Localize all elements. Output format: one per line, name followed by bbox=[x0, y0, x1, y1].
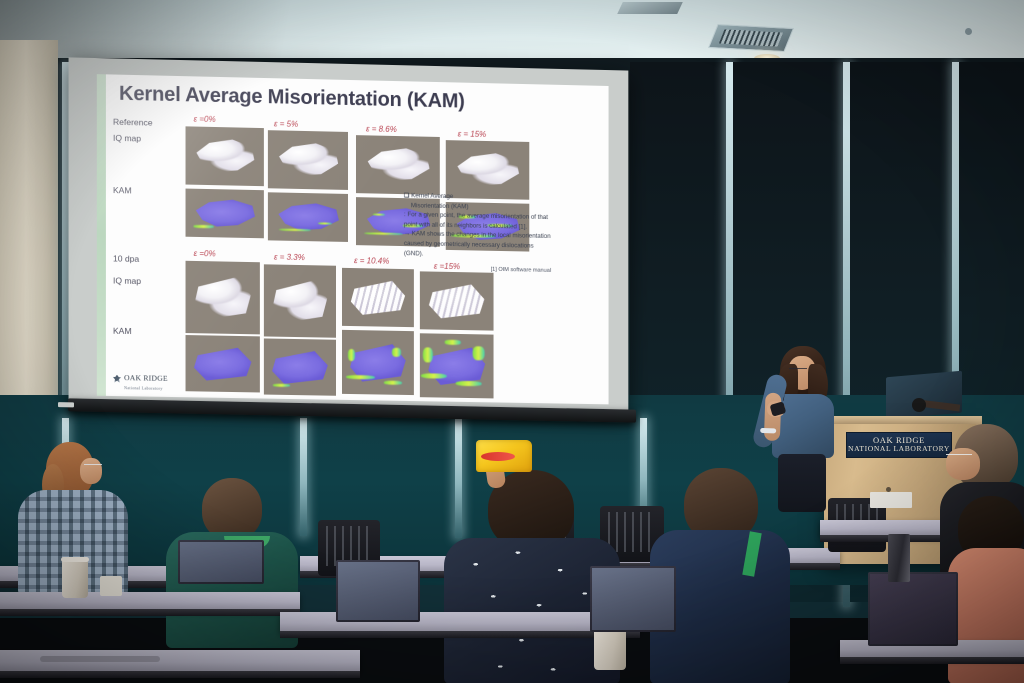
ornl-logo-line1: OAK RIDGE bbox=[124, 373, 168, 383]
micrograph-ref-iq-0 bbox=[186, 126, 264, 186]
micrograph-dpa-kam-2 bbox=[342, 330, 414, 395]
strain-label-dpa-1: ε = 3.3% bbox=[274, 252, 305, 262]
row-label-10dpa-kam: KAM bbox=[113, 326, 132, 336]
attendee-1-glasses bbox=[84, 464, 102, 468]
attendee-1-face bbox=[80, 458, 102, 484]
micrograph-ref-kam-0 bbox=[186, 189, 264, 239]
bullet-marker-icon: ❑ bbox=[404, 192, 410, 199]
table-front-center bbox=[280, 612, 640, 632]
strain-label-ref-0: ε =0% bbox=[194, 114, 216, 124]
attendee-5-glasses bbox=[946, 454, 972, 458]
ornl-logo: OAK RIDGE National Laboratory bbox=[113, 367, 168, 391]
ceiling-sensor-icon bbox=[965, 28, 972, 35]
screen-surface: Kernel Average Misorientation (KAM) Refe… bbox=[69, 57, 629, 413]
projection-screen: Kernel Average Misorientation (KAM) Refe… bbox=[69, 57, 629, 413]
slide-title: Kernel Average Misorientation (KAM) bbox=[119, 83, 465, 114]
textbox-heading-line1: Kernel Average bbox=[411, 192, 453, 200]
coffee-cup-1[interactable] bbox=[62, 560, 88, 598]
row-label-reference-iq: IQ map bbox=[113, 133, 141, 144]
presenter-hand bbox=[767, 401, 786, 418]
ornl-logo-line2: National Laboratory bbox=[124, 385, 168, 391]
snack-bag[interactable] bbox=[476, 440, 532, 472]
slide-textbox: ❑ Kernel Average Misorientation (KAM) : … bbox=[404, 191, 551, 276]
presenter-glasses bbox=[789, 368, 807, 373]
laptop-1[interactable] bbox=[178, 540, 264, 584]
monitor-hinge bbox=[912, 398, 926, 412]
micrograph-ref-kam-1 bbox=[268, 192, 348, 242]
row-label-reference: Reference bbox=[113, 117, 153, 128]
slide-accent-bar bbox=[97, 74, 106, 396]
micrograph-dpa-iq-0 bbox=[186, 261, 260, 335]
podium-sign-line2: NATIONAL LABORATORY bbox=[848, 445, 950, 453]
paper-sheet bbox=[870, 492, 912, 508]
micrograph-dpa-kam-1 bbox=[264, 338, 336, 395]
row-label-10dpa-iq: IQ map bbox=[113, 275, 141, 286]
micrograph-ref-iq-3 bbox=[446, 140, 530, 200]
micrograph-ref-iq-2 bbox=[356, 135, 440, 195]
napkin-1 bbox=[100, 576, 122, 596]
presenter-forearm bbox=[764, 393, 782, 442]
strain-label-ref-3: ε = 15% bbox=[458, 129, 487, 139]
micrograph-ref-iq-1 bbox=[268, 130, 348, 190]
ceiling-air-vent bbox=[708, 24, 794, 52]
laptop-3[interactable] bbox=[590, 566, 676, 632]
thermos[interactable] bbox=[888, 534, 910, 582]
row-label-10dpa: 10 dpa bbox=[113, 253, 139, 264]
presenter-watch bbox=[760, 428, 776, 434]
textbox-implication: → KAM shows the changes in the local mis… bbox=[404, 230, 551, 262]
micrograph-dpa-iq-3 bbox=[420, 271, 494, 330]
presentation-slide: Kernel Average Misorientation (KAM) Refe… bbox=[97, 74, 609, 404]
strain-label-dpa-0: ε =0% bbox=[194, 249, 216, 258]
row-label-reference-kam: KAM bbox=[113, 185, 132, 195]
attendee-2-head bbox=[202, 478, 262, 540]
ornl-leaf-icon bbox=[113, 374, 121, 382]
table-front-left bbox=[0, 592, 300, 610]
micrograph-dpa-kam-0 bbox=[186, 335, 260, 392]
micrograph-dpa-kam-3 bbox=[420, 333, 494, 398]
lower-light-strip-2 bbox=[300, 418, 307, 536]
laptop-4[interactable] bbox=[868, 572, 958, 646]
micrograph-dpa-iq-2 bbox=[342, 268, 414, 327]
strain-label-ref-2: ε = 8.6% bbox=[366, 124, 397, 134]
strain-label-ref-1: ε = 5% bbox=[274, 119, 298, 129]
attendee-5-face bbox=[946, 448, 980, 480]
micrograph-dpa-iq-1 bbox=[264, 264, 336, 337]
conference-room-scene: Kernel Average Misorientation (KAM) Refe… bbox=[0, 0, 1024, 683]
podium-sign: OAK RIDGE NATIONAL LABORATORY bbox=[846, 432, 952, 458]
ceiling-vent-secondary bbox=[617, 2, 683, 14]
laptop-2[interactable] bbox=[336, 560, 420, 622]
strain-label-dpa-2: ε = 10.4% bbox=[354, 256, 389, 266]
presenter-monitor bbox=[886, 371, 962, 420]
pen-foreground bbox=[40, 656, 160, 662]
